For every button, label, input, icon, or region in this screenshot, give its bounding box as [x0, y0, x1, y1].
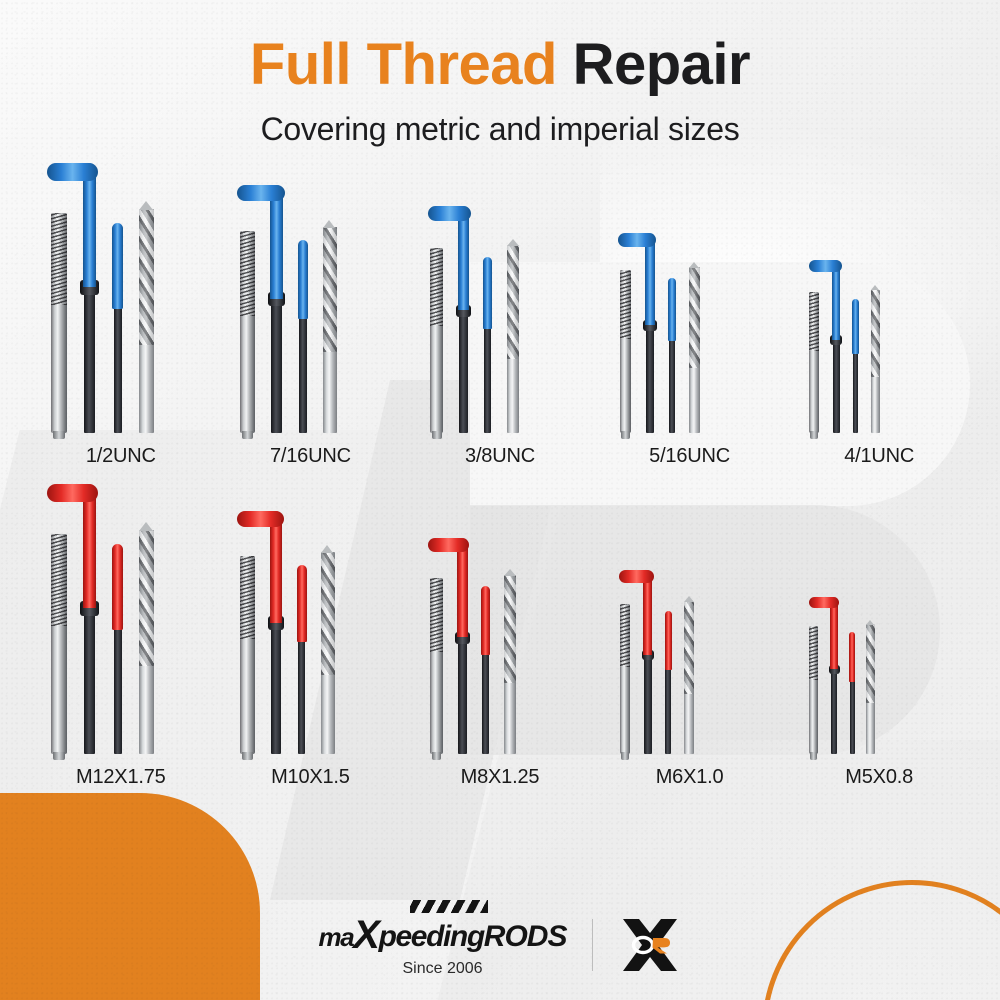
- thread-tap: [809, 626, 818, 754]
- insert-tool-handle-vertical: [830, 600, 838, 670]
- insert-tool-shaft: [458, 634, 467, 754]
- drill-point: [139, 201, 153, 210]
- thread-tap: [620, 270, 632, 433]
- insert-driver-handle: [852, 299, 859, 354]
- kit-size-label: M8X1.25: [461, 766, 540, 789]
- drill-point: [504, 569, 516, 576]
- drill-shank: [689, 362, 700, 433]
- insert-tool-handle-vertical: [458, 210, 469, 311]
- insert-driver: [112, 538, 123, 754]
- insert-driver: [298, 234, 308, 433]
- drill-shank: [684, 688, 694, 754]
- insert-tool-handle-horizontal: [809, 260, 842, 272]
- tool-kit-illustration: [610, 175, 770, 433]
- header: Full Thread Repair Covering metric and i…: [0, 0, 1000, 148]
- insert-tool-shaft: [646, 322, 654, 433]
- kit-size-label: M6X1.0: [656, 766, 724, 789]
- insert-tool: [832, 273, 870, 433]
- drill-point: [689, 262, 699, 268]
- insert-driver-shaft: [853, 350, 858, 433]
- insert-driver-shaft: [298, 637, 306, 754]
- drill-point: [321, 545, 333, 553]
- thread-tap: [430, 578, 443, 754]
- oxr-badge-icon: OXR: [619, 917, 681, 973]
- drill-flutes: [507, 245, 520, 359]
- tool-kit-illustration: [799, 496, 959, 754]
- brand-x: X: [353, 913, 378, 957]
- insert-tool-handle-vertical: [832, 263, 841, 340]
- tool-kit: 1/2UNC: [31, 175, 211, 468]
- tool-kit-illustration: [230, 496, 390, 754]
- drill-flutes: [321, 552, 335, 674]
- drill-point: [507, 239, 519, 246]
- insert-tool-handle-vertical: [270, 515, 282, 623]
- insert-driver: [481, 581, 490, 754]
- tool-kit: 3/8UNC: [410, 175, 590, 468]
- insert-driver-handle: [112, 544, 123, 630]
- drill-point: [871, 285, 879, 290]
- insert-driver: [668, 273, 676, 433]
- drill-flutes: [684, 602, 694, 694]
- insert-driver-shaft: [665, 666, 671, 754]
- thread-tap: [240, 556, 254, 754]
- twist-drill-bit: [504, 568, 516, 754]
- insert-driver-handle: [112, 223, 123, 309]
- twist-drill-bit: [866, 619, 875, 754]
- insert-driver: [849, 629, 855, 754]
- brand-peeding: peeding: [379, 920, 484, 953]
- insert-tool-handle-vertical: [270, 188, 282, 298]
- insert-driver: [112, 217, 123, 433]
- kit-size-label: 7/16UNC: [270, 445, 351, 468]
- insert-driver-handle: [665, 611, 672, 669]
- insert-driver: [297, 560, 307, 754]
- insert-driver-shaft: [482, 650, 489, 754]
- insert-tool-handle-horizontal: [428, 538, 469, 552]
- insert-tool-handle-horizontal: [237, 185, 284, 202]
- tool-kit: M10X1.5: [220, 496, 400, 789]
- tool-kit-illustration: [420, 175, 580, 433]
- tool-kit: M5X0.8: [789, 496, 969, 789]
- drill-point: [684, 596, 694, 602]
- insert-tool-handle-horizontal: [47, 484, 99, 502]
- twist-drill-bit: [139, 201, 154, 433]
- thread-tap: [620, 604, 631, 754]
- drill-flutes: [689, 267, 700, 368]
- insert-driver-shaft: [114, 624, 122, 754]
- tool-kit-illustration: [230, 175, 390, 433]
- drill-flutes: [866, 624, 875, 703]
- insert-driver-shaft: [484, 324, 491, 433]
- insert-tool-shaft: [271, 295, 281, 433]
- footer: maXpeedingRODS Since 2006 OXR: [0, 911, 1000, 978]
- insert-driver-handle: [668, 278, 676, 342]
- twist-drill-bit: [871, 285, 881, 433]
- insert-tool-handle-horizontal: [619, 570, 654, 582]
- insert-driver-handle: [297, 565, 307, 642]
- drill-shank: [871, 371, 881, 433]
- insert-tool-handle-horizontal: [237, 511, 283, 527]
- insert-driver-handle: [849, 632, 855, 682]
- drill-flutes: [323, 227, 337, 352]
- kit-size-label: M12X1.75: [76, 766, 166, 789]
- insert-tool-shaft: [831, 667, 837, 754]
- insert-tool-handle-vertical: [83, 488, 97, 608]
- page-content: Full Thread Repair Covering metric and i…: [0, 0, 1000, 1000]
- page-title-accent: Full Thread: [250, 32, 557, 97]
- insert-tool: [830, 609, 865, 754]
- insert-driver-shaft: [299, 313, 307, 433]
- kit-row-metric: M12X1.75 M10X1.5 M8X1.25 M6X1.0 M5X0: [0, 496, 1000, 789]
- brand-ma: ma: [319, 922, 354, 952]
- drill-flutes: [139, 209, 154, 345]
- thread-tap: [51, 213, 67, 433]
- tool-kit: M12X1.75: [31, 496, 211, 789]
- drill-point: [866, 620, 874, 625]
- page-subtitle: Covering metric and imperial sizes: [0, 111, 1000, 148]
- insert-tool-shaft: [84, 283, 95, 433]
- tool-kit-illustration: [41, 496, 201, 754]
- thread-tap: [809, 292, 819, 433]
- footer-divider: [592, 919, 593, 971]
- insert-tool-handle-horizontal: [428, 206, 471, 221]
- twist-drill-bit: [689, 261, 700, 433]
- tool-kit-illustration: [610, 496, 770, 754]
- insert-driver: [665, 607, 672, 754]
- tool-kit-illustration: [420, 496, 580, 754]
- kit-grid: 1/2UNC 7/16UNC 3/8UNC 5/16UNC 4/1UNC: [0, 175, 1000, 789]
- insert-tool-shaft: [833, 337, 840, 433]
- tool-kit: M8X1.25: [410, 496, 590, 789]
- kit-row-imperial: 1/2UNC 7/16UNC 3/8UNC 5/16UNC 4/1UNC: [0, 175, 1000, 468]
- tool-kit: M6X1.0: [600, 496, 780, 789]
- insert-tool-shaft: [644, 652, 651, 754]
- kit-size-label: 5/16UNC: [649, 445, 730, 468]
- drill-point: [323, 220, 335, 228]
- oxr-badge-text: OXR: [681, 917, 682, 918]
- insert-tool-shaft: [459, 307, 468, 433]
- twist-drill-bit: [139, 522, 154, 754]
- kit-size-label: M5X0.8: [845, 766, 913, 789]
- insert-driver-shaft: [114, 303, 122, 433]
- thread-tap: [51, 534, 67, 754]
- page-title-dark: Repair: [573, 32, 751, 97]
- thread-tap: [240, 231, 255, 433]
- tool-kit: 4/1UNC: [789, 175, 969, 468]
- twist-drill-bit: [321, 545, 335, 754]
- twist-drill-bit: [323, 220, 337, 433]
- drill-flutes: [871, 290, 881, 377]
- tool-kit: 5/16UNC: [600, 175, 780, 468]
- insert-tool-shaft: [84, 604, 95, 754]
- insert-driver: [852, 295, 859, 433]
- drill-shank: [321, 669, 335, 754]
- drill-shank: [507, 353, 520, 433]
- twist-drill-bit: [684, 596, 694, 754]
- thread-tap: [430, 248, 443, 433]
- tool-kit-illustration: [799, 175, 959, 433]
- insert-tool-handle-vertical: [645, 236, 655, 325]
- racing-flag-icon: [410, 900, 488, 913]
- insert-tool-handle-horizontal: [618, 233, 656, 246]
- drill-shank: [866, 697, 875, 754]
- kit-size-label: M10X1.5: [271, 766, 350, 789]
- brand-since: Since 2006: [402, 960, 482, 978]
- brand-logo: maXpeedingRODS Since 2006: [319, 911, 567, 978]
- insert-tool-handle-horizontal: [809, 597, 839, 607]
- drill-flutes: [139, 530, 154, 666]
- insert-tool-handle-vertical: [83, 167, 97, 287]
- drill-shank: [323, 346, 337, 433]
- insert-driver-handle: [481, 586, 490, 655]
- insert-driver: [483, 252, 492, 433]
- insert-tool-shaft: [271, 619, 281, 754]
- brand-rods: RODS: [484, 920, 567, 953]
- insert-driver-handle: [298, 240, 308, 319]
- insert-driver-shaft: [850, 679, 855, 754]
- insert-driver-shaft: [669, 337, 675, 433]
- page-title: Full Thread Repair: [0, 34, 1000, 95]
- drill-flutes: [504, 575, 516, 684]
- kit-size-label: 4/1UNC: [844, 445, 914, 468]
- brand-wordmark: maXpeedingRODS: [319, 911, 567, 956]
- tool-kit-illustration: [41, 175, 201, 433]
- drill-shank: [504, 677, 516, 754]
- insert-tool-handle-vertical: [643, 573, 652, 655]
- insert-tool-handle-vertical: [457, 541, 468, 637]
- drill-point: [139, 522, 153, 531]
- tool-kit: 7/16UNC: [220, 175, 400, 468]
- insert-tool-handle-horizontal: [47, 163, 99, 181]
- twist-drill-bit: [507, 238, 520, 433]
- drill-shank: [139, 660, 154, 754]
- insert-driver-handle: [483, 257, 492, 329]
- drill-shank: [139, 339, 154, 433]
- kit-size-label: 1/2UNC: [86, 445, 156, 468]
- kit-size-label: 3/8UNC: [465, 445, 535, 468]
